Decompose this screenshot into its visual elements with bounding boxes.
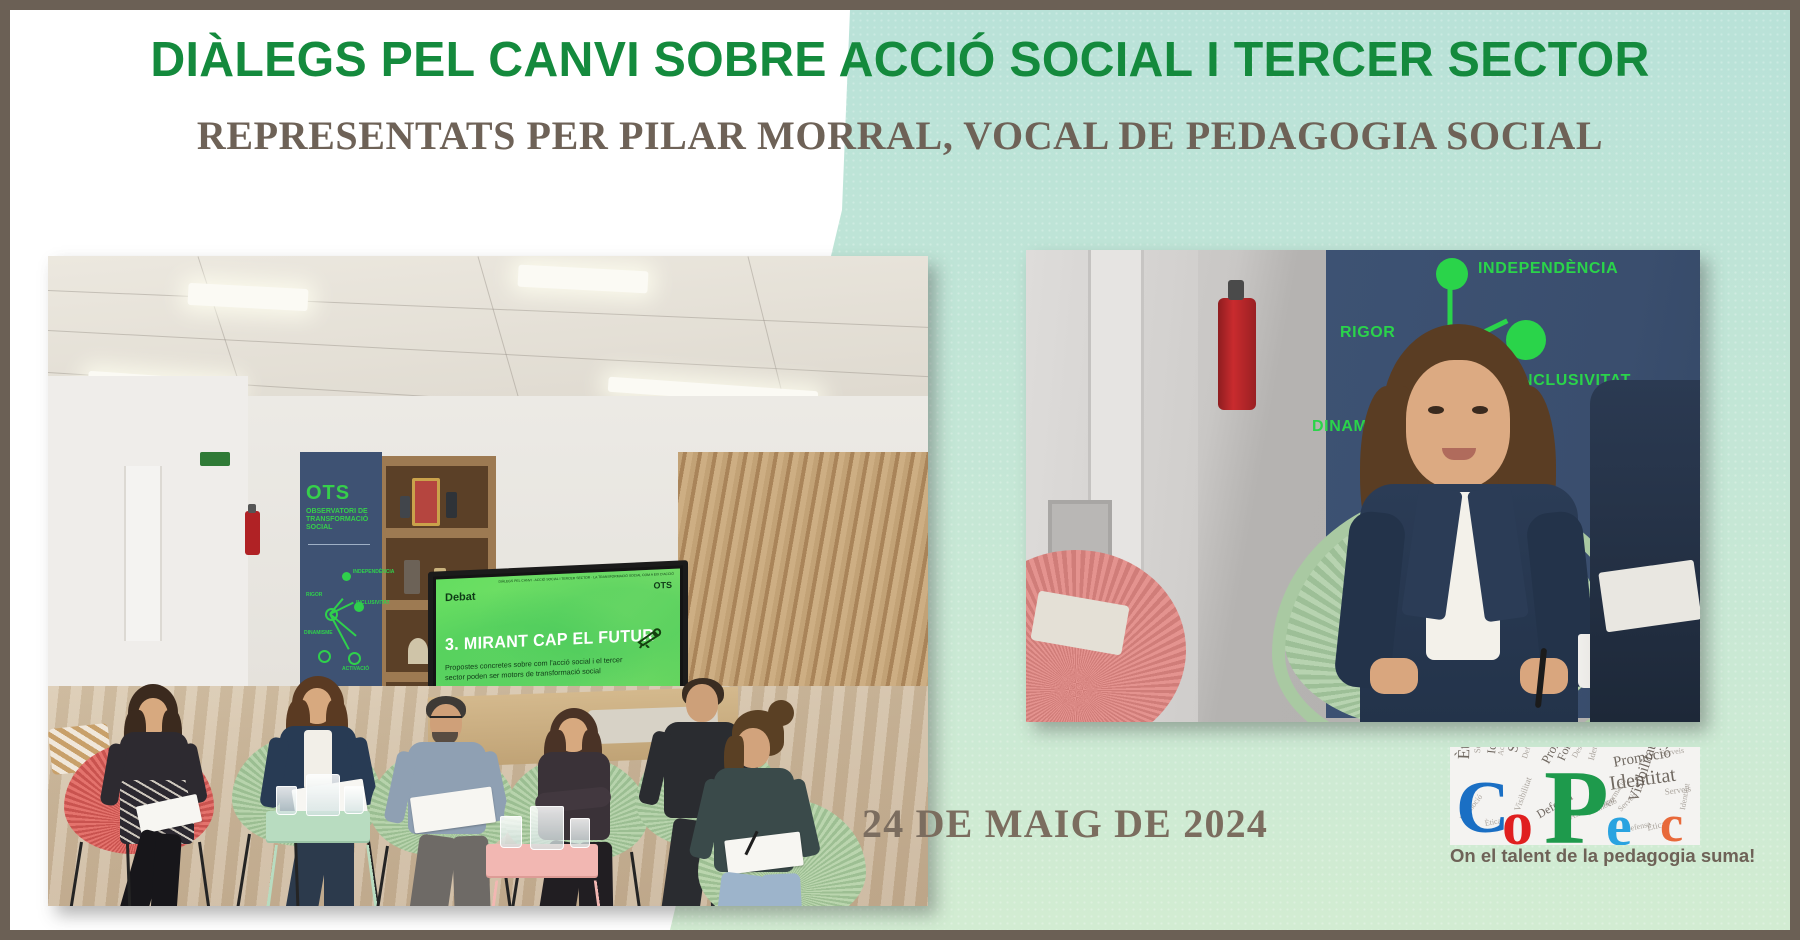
fire-extinguisher-icon (245, 511, 260, 555)
telescope-icon (636, 627, 662, 648)
person-partial-right (1590, 380, 1700, 722)
logo-letterforms: C o P e c (1450, 747, 1700, 845)
screen-logo-ots: OTS (653, 580, 672, 591)
fire-extinguisher-icon (1218, 298, 1256, 410)
logo-letter-p-green: P (1544, 755, 1609, 845)
exit-sign-icon (200, 452, 230, 466)
person-pilar-morral (1342, 324, 1602, 722)
page-title: DIÀLEGS PEL CANVI SOBRE ACCIÓ SOCIAL I T… (23, 32, 1776, 88)
side-table-legs (264, 845, 381, 906)
screen-title: 3. MIRANT CAP EL FUTUR (445, 626, 654, 656)
poster-canvas: DIÀLEGS PEL CANVI SOBRE ACCIÓ SOCIAL I T… (0, 0, 1800, 940)
screen-kicker: Debat (445, 591, 476, 604)
photo-panel-discussion: OTS OBSERVATORI DE TRANSFORMACIÓ SOCIAL … (48, 256, 928, 906)
logo-letter-c-orange: c (1660, 799, 1683, 845)
banner-subtitle: OBSERVATORI DE TRANSFORMACIÓ SOCIAL (306, 508, 378, 532)
logo-letter-e-blue: e (1606, 797, 1632, 845)
screen-header-text: DIÀLEGS PEL CANVI · ACCIÓ SOCIAL I TERCE… (444, 572, 674, 586)
water-glass (570, 818, 590, 848)
door (124, 466, 162, 641)
photo-pilar-morral: INDEPENDÈNCIA RIGOR INCLUSIVITAT DINAMIS… (1026, 250, 1700, 722)
copec-logo: Ètica Serveis Identitat Acompanyament Se… (1450, 747, 1700, 877)
water-glass (500, 816, 522, 848)
room-scene: OTS OBSERVATORI DE TRANSFORMACIÓ SOCIAL … (48, 256, 928, 906)
water-glass (276, 786, 297, 815)
event-date: 24 DE MAIG DE 2024 (862, 800, 1252, 847)
screen-body-text: Propostes concretes sobre com l'acció so… (445, 655, 635, 684)
banner-logo-ots: OTS (306, 482, 376, 505)
logo-tagline: On el talent de la pedagogia suma! (1450, 845, 1700, 867)
water-pitcher (306, 774, 340, 816)
screen-logo-text: OTS (653, 580, 672, 591)
logo-letter-o-red: o (1502, 793, 1533, 845)
side-table-legs (483, 880, 609, 906)
logo-wordcloud: Ètica Serveis Identitat Acompanyament Se… (1450, 747, 1700, 845)
page-subtitle: REPRESENTATS PER PILAR MORRAL, VOCAL DE … (10, 112, 1790, 159)
banner-divider (308, 544, 370, 545)
water-pitcher (530, 806, 564, 850)
water-glass (344, 786, 364, 814)
poster-stage: DIÀLEGS PEL CANVI SOBRE ACCIÓ SOCIAL I T… (10, 10, 1790, 930)
